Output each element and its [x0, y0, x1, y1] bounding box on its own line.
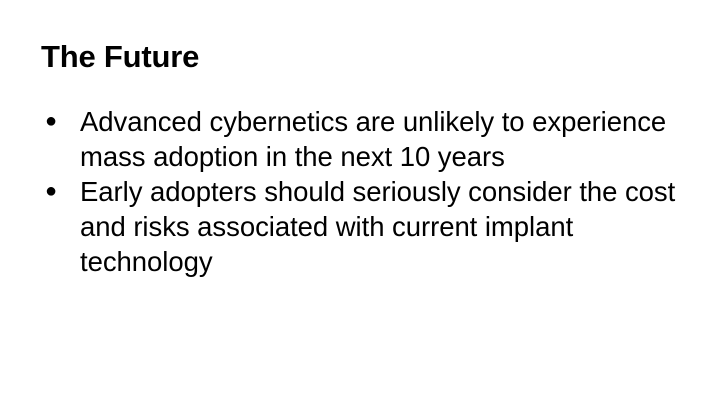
- list-item-text: Early adopters should seriously consider…: [80, 174, 689, 279]
- bullet-point-icon: ●: [45, 104, 63, 139]
- page-title: The Future: [41, 38, 681, 76]
- bullet-point-icon: ●: [45, 174, 63, 209]
- list-item: ● Advanced cybernetics are unlikely to e…: [41, 104, 689, 174]
- list-item: ● Early adopters should seriously consid…: [41, 174, 689, 279]
- bullet-list: ● Advanced cybernetics are unlikely to e…: [41, 104, 689, 279]
- list-item-text: Advanced cybernetics are unlikely to exp…: [80, 104, 689, 174]
- presentation-slide: The Future ● Advanced cybernetics are un…: [0, 0, 720, 405]
